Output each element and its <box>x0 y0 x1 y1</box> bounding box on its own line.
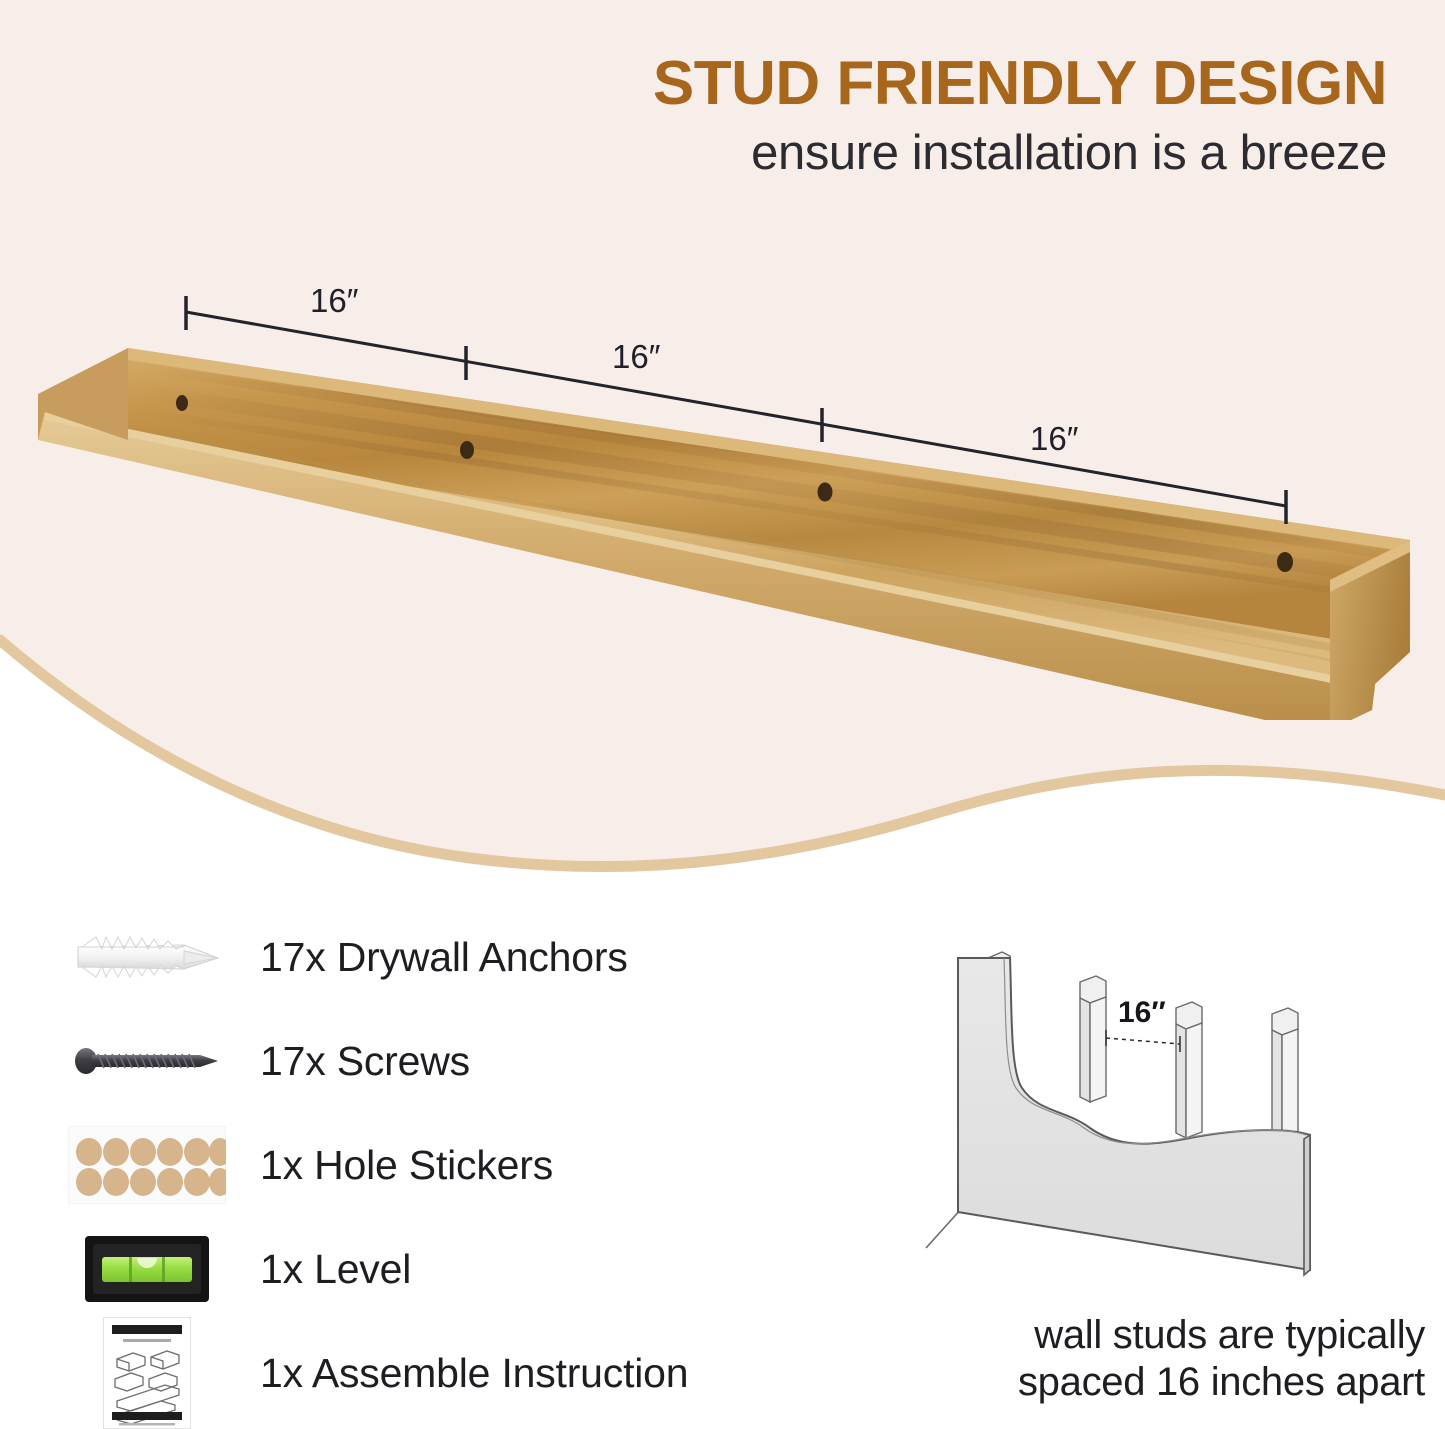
drywall-anchor-icon <box>62 907 232 1007</box>
floor-guide-line <box>926 1208 962 1248</box>
list-item: 17x Drywall Anchors <box>62 905 822 1009</box>
hole-stickers-icon <box>62 1115 232 1215</box>
wall-stud-diagram: 16″ <box>890 930 1410 1305</box>
parts-list: 17x Drywall Anchors <box>62 905 822 1425</box>
list-item: 1x Hole Stickers <box>62 1113 822 1217</box>
level-tool-icon <box>62 1219 232 1319</box>
shelf-illustration <box>0 240 1445 720</box>
stud-spacing-dimension <box>1106 1030 1180 1052</box>
caption-line-1: wall studs are typically <box>880 1312 1425 1359</box>
list-item-label: 1x Assemble Instruction <box>260 1350 688 1397</box>
list-item-label: 1x Level <box>260 1246 411 1293</box>
infographic-root: STUD FRIENDLY DESIGN ensure installation… <box>0 0 1445 1429</box>
list-item: 1x Assemble Instruction <box>62 1321 822 1425</box>
drywall-edge-right <box>1304 1135 1310 1275</box>
list-item: 17x Screws <box>62 1009 822 1113</box>
instruction-manual-icon <box>62 1323 232 1423</box>
list-item-label: 17x Drywall Anchors <box>260 934 628 981</box>
screw-icon <box>62 1011 232 1111</box>
list-item: 1x Level <box>62 1217 822 1321</box>
list-item-label: 17x Screws <box>260 1038 470 1085</box>
page-subtitle: ensure installation is a breeze <box>0 128 1387 179</box>
stud-diagram-caption: wall studs are typically spaced 16 inche… <box>880 1312 1425 1406</box>
page-title: STUD FRIENDLY DESIGN <box>0 52 1387 116</box>
headline-block: STUD FRIENDLY DESIGN ensure installation… <box>0 52 1445 179</box>
stud-dimension-label: 16″ <box>1118 996 1166 1029</box>
list-item-label: 1x Hole Stickers <box>260 1142 553 1189</box>
caption-line-2: spaced 16 inches apart <box>880 1359 1425 1406</box>
